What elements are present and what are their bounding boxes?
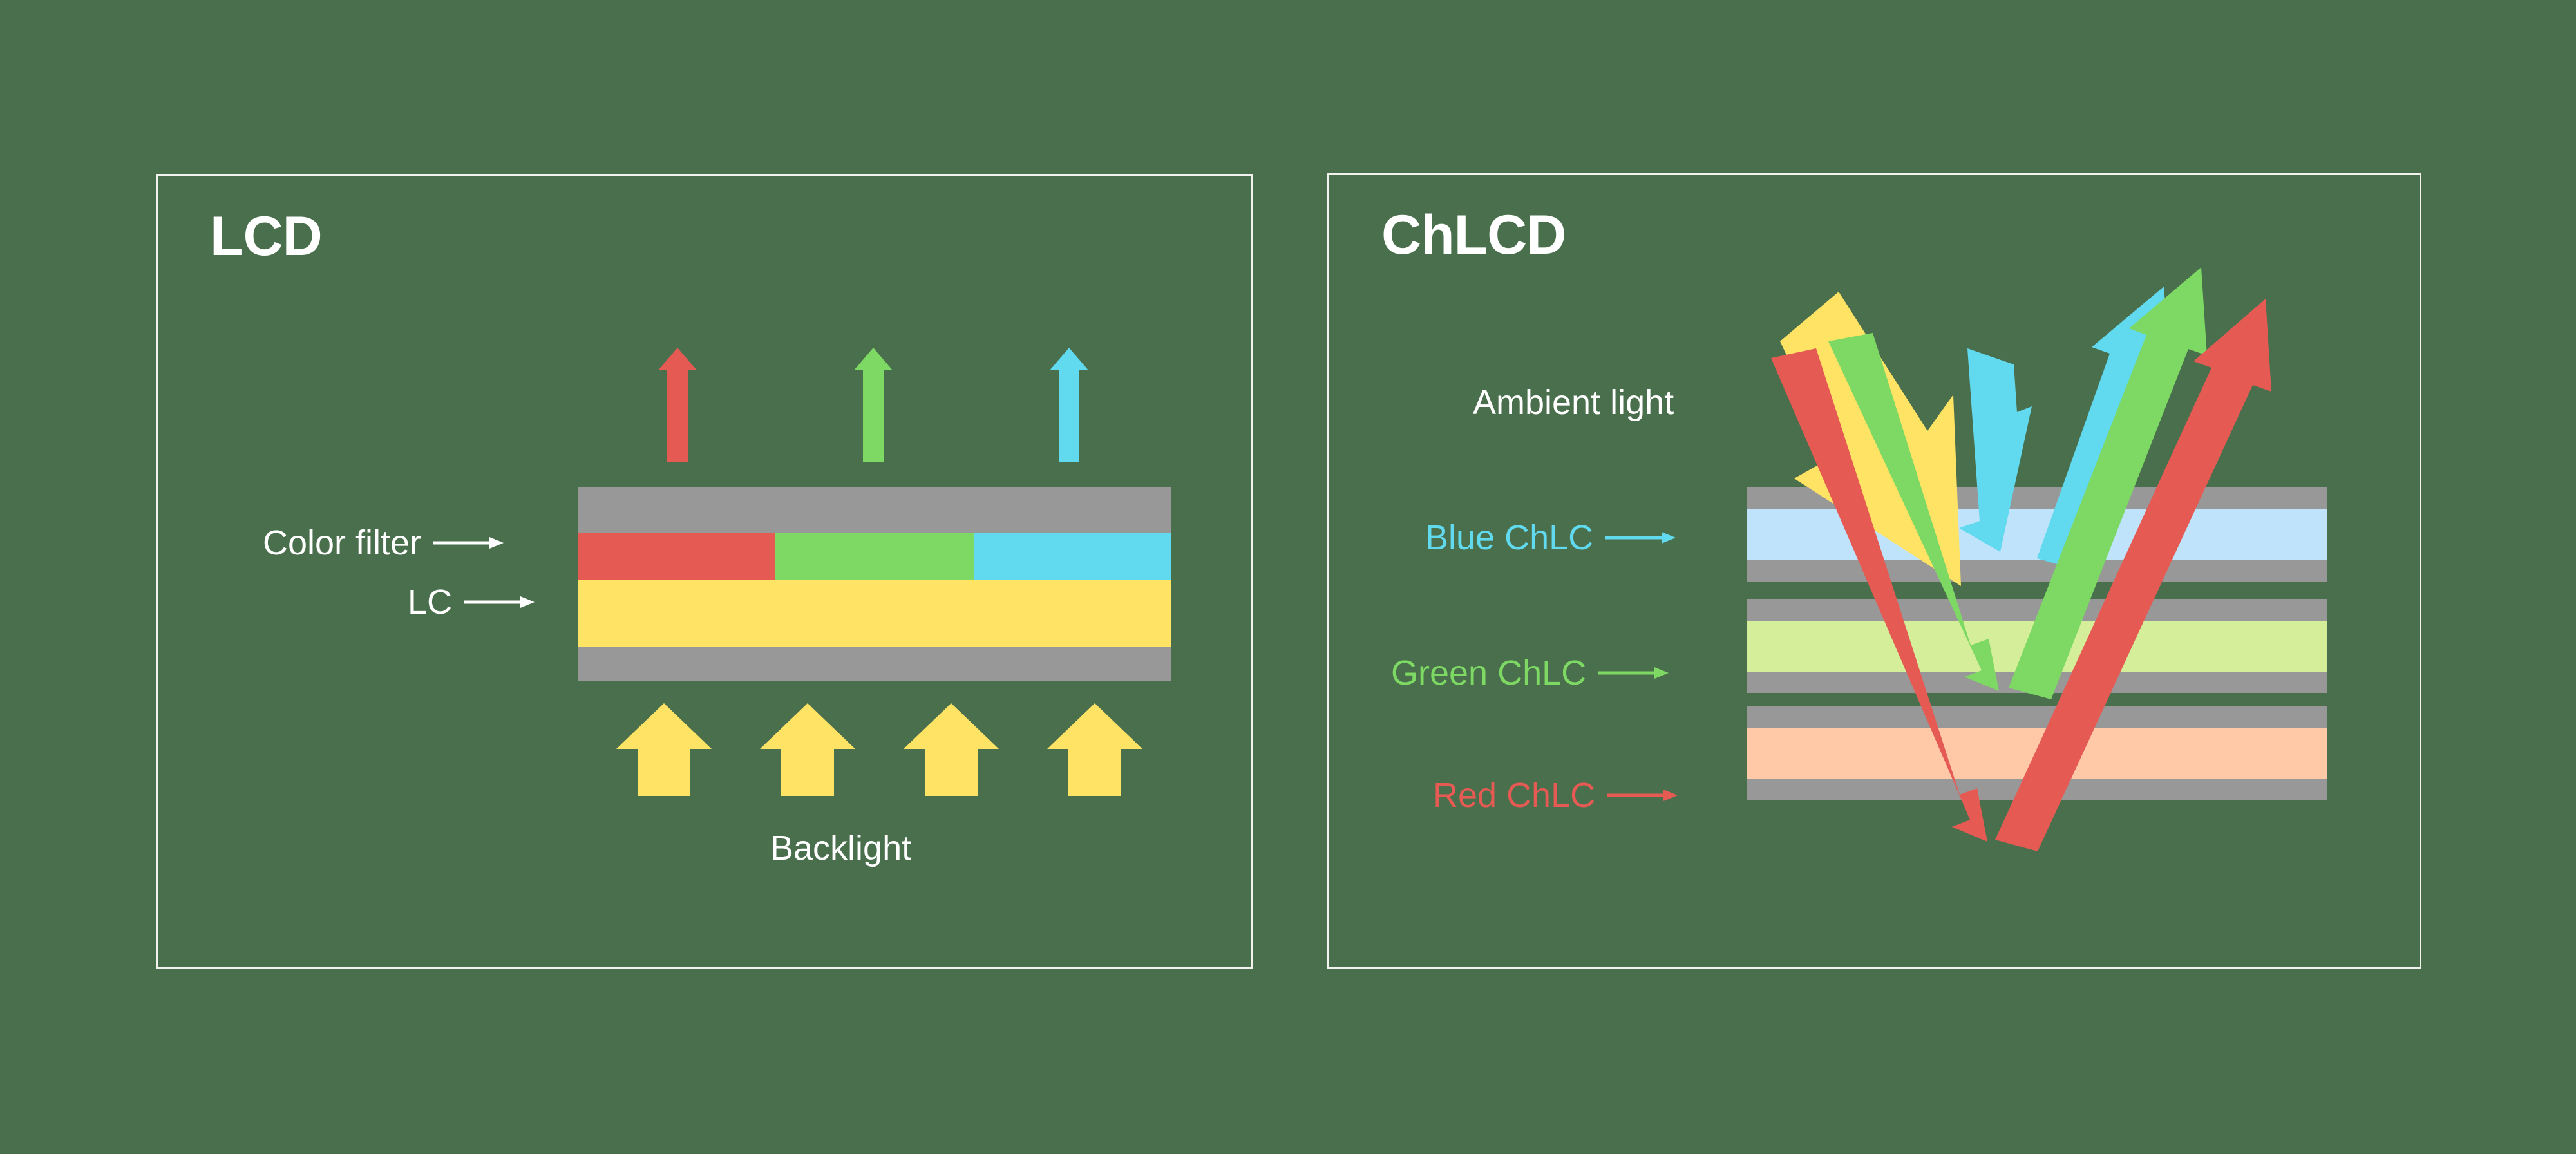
lcd-substrate-top [578, 487, 1171, 533]
lc-pointer-arrow [464, 592, 535, 612]
color-filter-green-segment [775, 533, 973, 580]
red-cell-substrate-top [1747, 706, 2327, 728]
green-chlc-label-group: Green ChLC [1391, 656, 1669, 690]
red-chlc-label: Red ChLC [1433, 778, 1595, 813]
lcd-liquid-crystal-layer [578, 580, 1171, 647]
red-cell-substrate-bottom [1747, 779, 2327, 800]
blue-chlc-layer [1747, 509, 2327, 560]
green-chlc-cell [1747, 599, 2327, 693]
green-cell-substrate-top [1747, 599, 2327, 621]
backlight-label-group: Backlight [770, 831, 911, 865]
blue-chlc-label: Blue ChLC [1425, 520, 1593, 555]
red-chlc-layer [1747, 728, 2327, 779]
color-filter-red-segment [578, 533, 775, 580]
ambient-light-label-group: Ambient light [1473, 385, 1674, 420]
red-chlc-pointer-arrow [1607, 786, 1678, 805]
lcd-substrate-bottom [578, 647, 1171, 681]
chlcd-panel-title: ChLCD [1381, 203, 1566, 267]
ambient-light-label: Ambient light [1473, 385, 1674, 420]
color-filter-label-group: Color filter [263, 525, 504, 560]
blue-chlc-pointer-arrow [1605, 528, 1676, 547]
green-chlc-layer [1747, 621, 2327, 672]
green-chlc-pointer-arrow [1598, 663, 1669, 683]
lc-label-group: LC [408, 585, 535, 620]
backlight-label: Backlight [770, 831, 911, 865]
lcd-color-filter-layer [578, 533, 1171, 580]
lcd-layer-stack [578, 487, 1171, 681]
color-filter-pointer-arrow [433, 533, 504, 553]
color-filter-blue-segment [974, 533, 1171, 580]
red-chlc-cell [1747, 706, 2327, 799]
blue-chlc-label-group: Blue ChLC [1425, 520, 1676, 555]
green-chlc-label: Green ChLC [1391, 656, 1586, 690]
lcd-panel-title: LCD [210, 205, 322, 269]
lc-label: LC [408, 585, 452, 620]
green-cell-substrate-bottom [1747, 672, 2327, 693]
blue-cell-substrate-top [1747, 487, 2327, 509]
diagram-canvas: LCD Color filter LC Backlight ChLCD [0, 0, 2576, 1154]
color-filter-label: Color filter [263, 525, 421, 560]
chlcd-layer-stack [1747, 487, 2327, 799]
red-chlc-label-group: Red ChLC [1433, 778, 1678, 813]
blue-chlc-cell [1747, 487, 2327, 582]
blue-cell-substrate-bottom [1747, 560, 2327, 582]
